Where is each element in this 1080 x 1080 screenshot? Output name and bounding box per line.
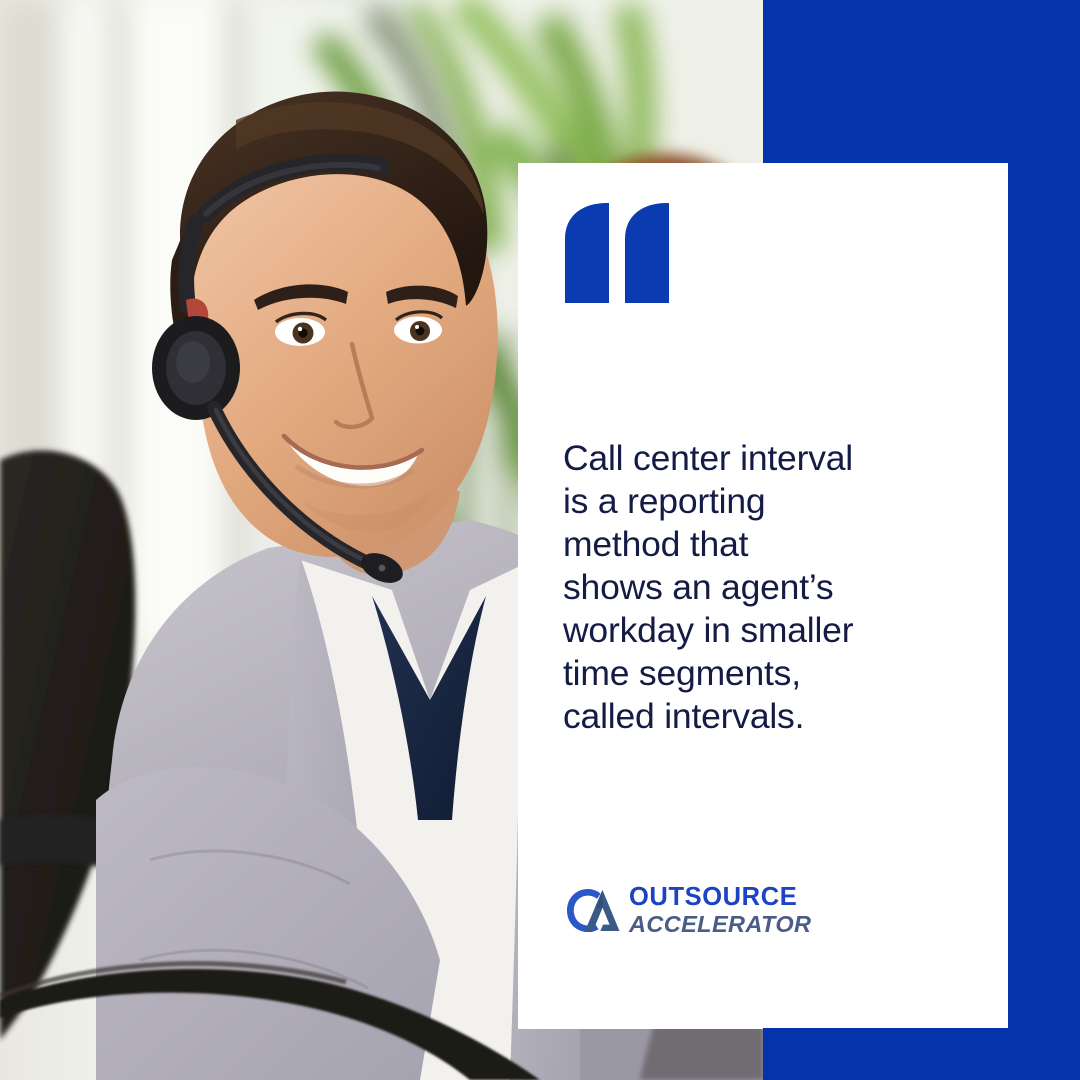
logo-line-outsource: OUTSOURCE xyxy=(629,885,811,911)
left-double-quotation-mark-icon xyxy=(563,203,683,303)
logo-wordmark: OUTSOURCE ACCELERATOR xyxy=(629,885,811,936)
logo-line-accelerator: ACCELERATOR xyxy=(629,913,811,937)
poster-canvas: Call center interval is a reporting meth… xyxy=(0,0,1080,1080)
quote-card: Call center interval is a reporting meth… xyxy=(518,163,1008,1029)
brand-logo[interactable]: OUTSOURCE ACCELERATOR xyxy=(564,885,811,936)
oa-monogram-icon xyxy=(564,886,620,936)
quote-text: Call center interval is a reporting meth… xyxy=(563,437,963,738)
blue-bottom-band xyxy=(763,1028,1080,1080)
